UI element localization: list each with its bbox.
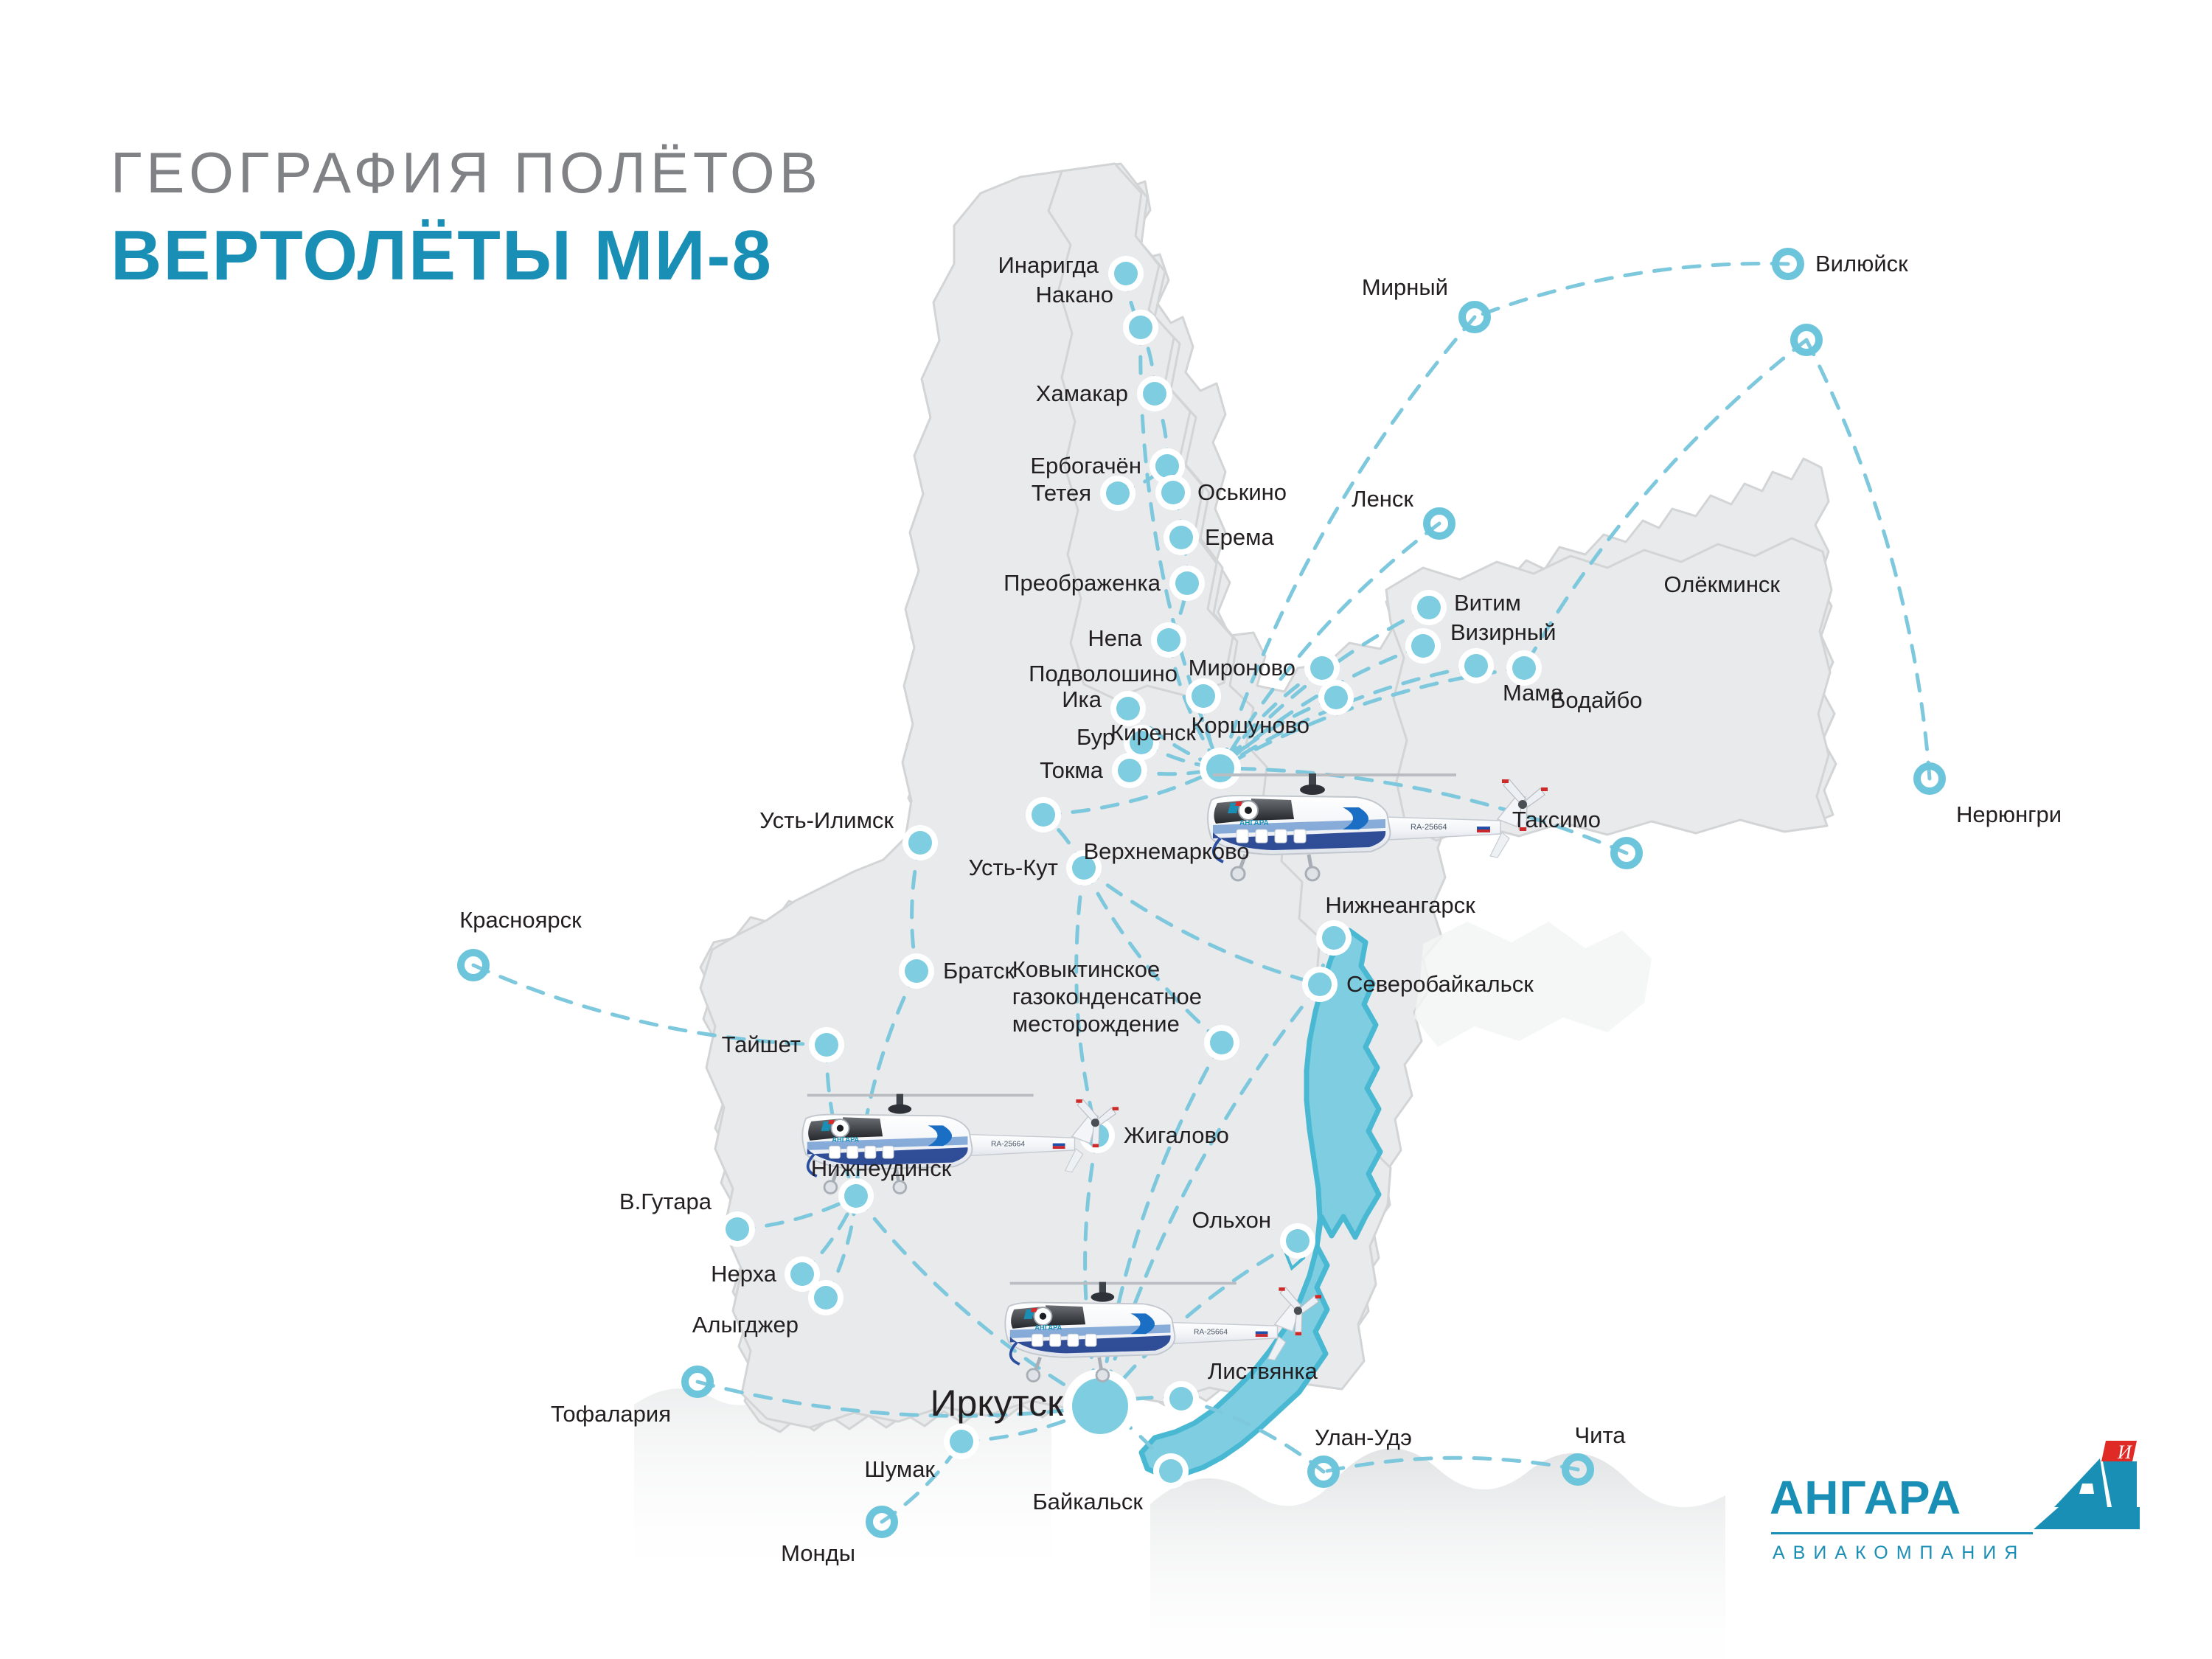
city-label-ust-kut: Усть-Кут — [968, 855, 1058, 881]
tailfin-script-letter: И — [2117, 1441, 2132, 1463]
city-label-bodaybo: Бодайбо — [1551, 687, 1643, 714]
city-label-khamakar: Хамакар — [1036, 380, 1128, 407]
city-label-baykalsk: Байкальск — [1032, 1489, 1143, 1515]
city-label-kirensk: Киренск — [1110, 720, 1196, 746]
city-label-chita: Чита — [1574, 1422, 1625, 1449]
logo-tagline: АВИАКОМПАНИЯ — [1773, 1543, 2025, 1564]
city-label-taksimo: Таксимо — [1512, 807, 1601, 833]
city-label-v-gutara: В.Гутара — [619, 1189, 712, 1215]
city-label-nizhneudinsk: Нижнеудинск — [811, 1155, 952, 1182]
city-label-vitim: Витим — [1454, 590, 1521, 616]
city-label-verkhnemarkovo: Верхнемарково — [1084, 838, 1250, 865]
logo-divider — [1771, 1532, 2033, 1534]
city-label-vizirny: Визирный — [1450, 619, 1556, 646]
city-label-mironovo: Мироново — [1189, 655, 1295, 681]
city-label-vilyuysk: Вилюйск — [1815, 251, 1908, 277]
city-label-korshunovo: Коршуново — [1191, 712, 1310, 739]
city-label-nizhneangarsk: Нижнеангарск — [1325, 892, 1475, 919]
city-label-mirny: Мирный — [1362, 274, 1448, 301]
city-label-nepa: Непа — [1088, 625, 1142, 652]
city-label-lensk: Ленск — [1352, 486, 1413, 512]
city-label-tokma: Токма — [1040, 757, 1103, 784]
city-label-erbogachen: Ербогачён — [1030, 453, 1141, 479]
city-label-ika: Ика — [1062, 686, 1102, 713]
city-label-tofalaria: Тофалария — [551, 1401, 671, 1427]
city-label-krasnoyarsk: Красноярск — [459, 907, 582, 933]
poster-root: АНГАРА RA-25664 — [0, 0, 2212, 1659]
city-labels-layer: ИнаригдаНаканоХамакарЕрбогачёнТетеяОськи… — [0, 0, 2212, 1659]
city-label-mondy: Монды — [781, 1540, 855, 1567]
city-label-podvoloshino: Подволошино — [1029, 661, 1178, 687]
city-label-ulan-ude: Улан-Удэ — [1315, 1425, 1412, 1451]
city-label-listvyanka: Листвянка — [1208, 1358, 1318, 1385]
city-label-alygdzher: Алыгджер — [692, 1312, 799, 1338]
city-label-shumak: Шумак — [864, 1456, 935, 1483]
city-label-erema: Ерема — [1205, 524, 1274, 551]
city-label-neryungri: Нерюнгри — [1956, 801, 2062, 828]
city-label-tayshet: Тайшет — [722, 1032, 801, 1058]
city-label-irkutsk: Иркутск — [931, 1382, 1063, 1425]
city-label-bur: Бур — [1077, 724, 1115, 751]
city-label-nakano: Накано — [1036, 282, 1113, 308]
city-label-teteya: Тетея — [1032, 480, 1091, 507]
city-label-kovykta: Ковыктинское газоконденсатное месторожде… — [1012, 956, 1202, 1038]
city-label-oskino: Оськино — [1197, 479, 1287, 506]
logo-wordmark: АНГАРА — [1770, 1470, 1961, 1525]
tailfin-icon: И — [2029, 1436, 2140, 1547]
city-label-zhigalovo: Жигалово — [1124, 1122, 1229, 1149]
city-label-severobaykalsk: Северобайкальск — [1346, 971, 1534, 998]
city-label-olkhon: Ольхон — [1192, 1207, 1271, 1234]
city-label-inarigda: Инаригда — [998, 252, 1099, 279]
city-label-preobrazhenka: Преображенка — [1004, 570, 1161, 597]
city-label-bratsk: Братск — [943, 958, 1015, 984]
angara-airlines-logo: АНГАРА АВИАКОМПАНИЯ И — [1770, 1460, 2138, 1585]
city-label-ust-ilimsk: Усть-Илимск — [759, 807, 894, 834]
city-label-olyokminsk: Олёкминск — [1664, 571, 1780, 598]
city-label-nerkha: Нерха — [711, 1261, 776, 1287]
